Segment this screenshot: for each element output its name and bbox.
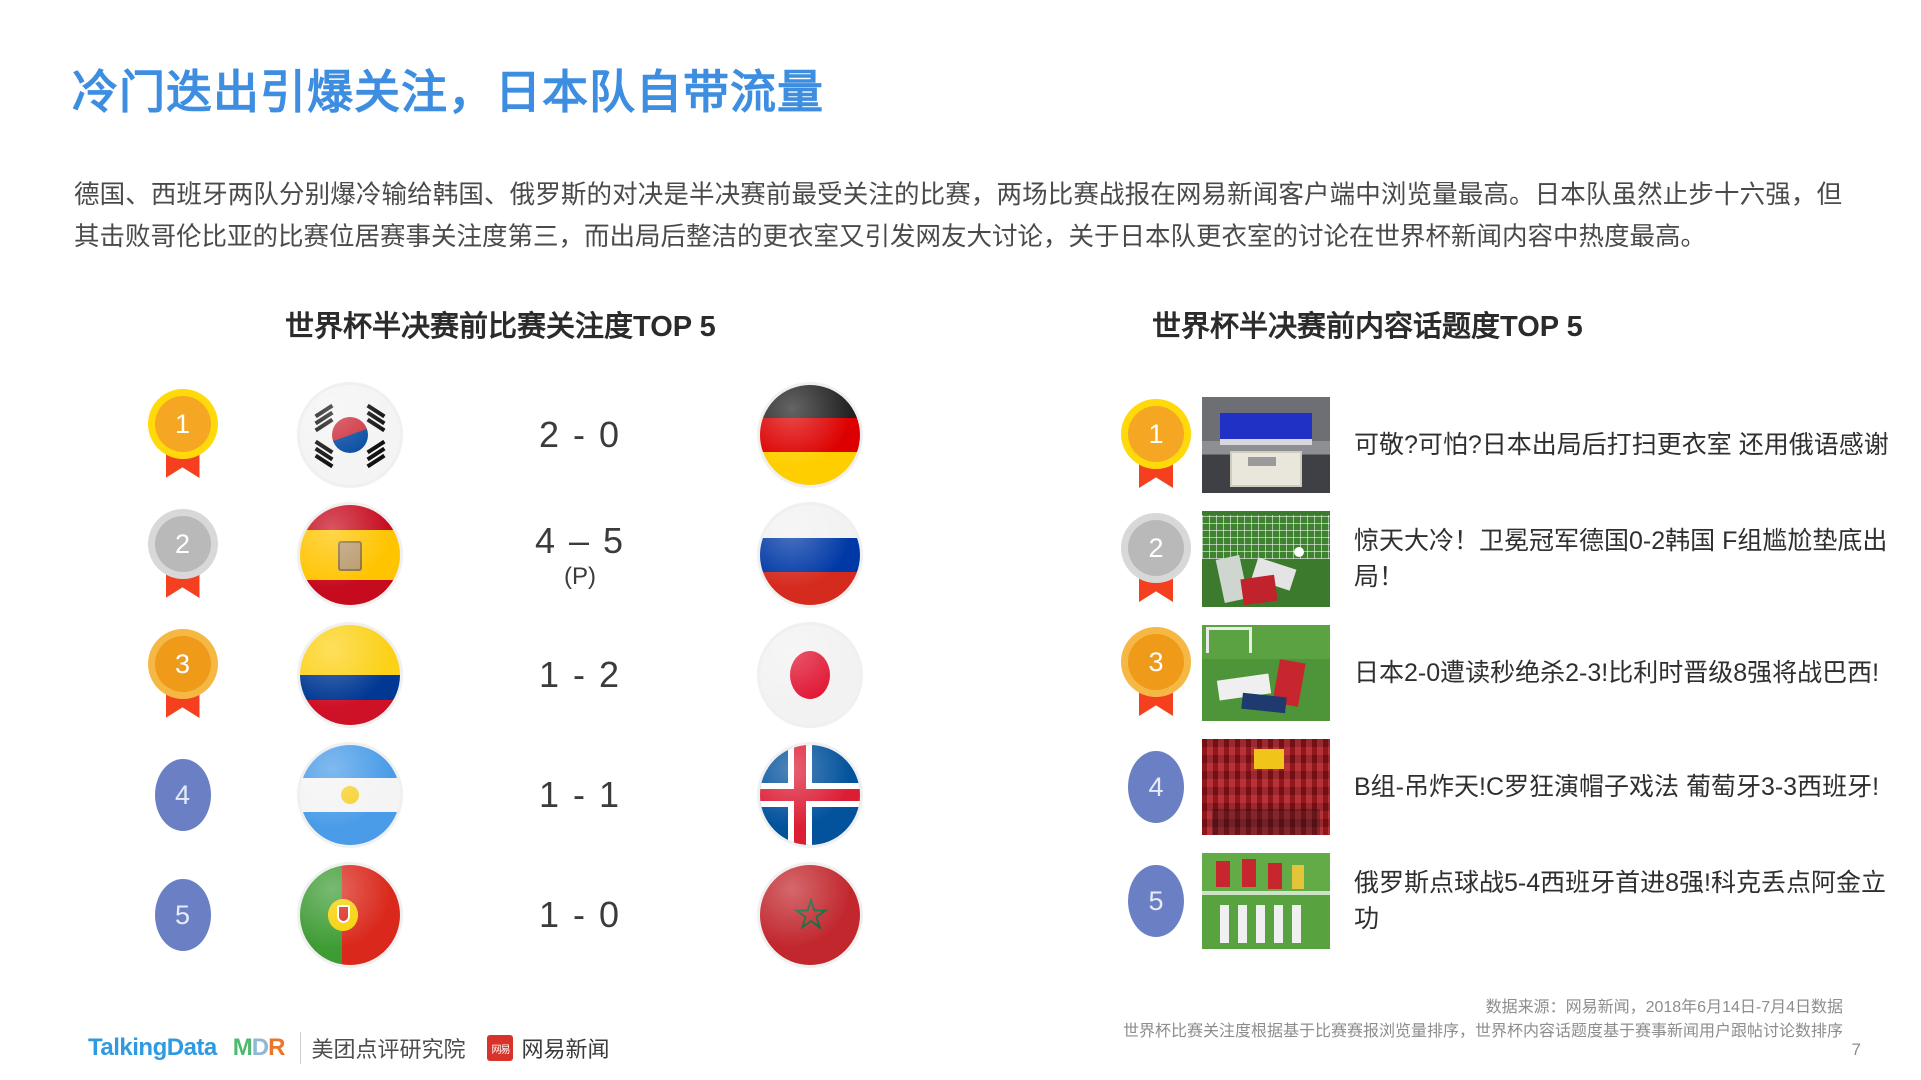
news-headline[interactable]: 惊天大冷！卫冕冠军德国0-2韩国 F组尴尬垫底出局！	[1330, 523, 1900, 595]
flag-iceland-icon	[760, 745, 860, 845]
news-ranking-list: 1 可敬?可怕?日本出局后打扫更衣室 还用俄语感谢 2 惊天大冷！卫冕冠军德国0…	[1110, 388, 1900, 958]
rank-cell: 3	[1110, 634, 1202, 712]
section-title-matches: 世界杯半决赛前比赛关注度TOP 5	[285, 303, 716, 345]
rank-cell: 2	[130, 516, 235, 594]
rank-cell: 2	[1110, 520, 1202, 598]
talkingdata-logo: TalkingData	[88, 1034, 217, 1062]
meituan-research-logo: 美团点评研究院	[300, 1032, 465, 1064]
rank-number: 3	[155, 636, 211, 692]
rank-number: 3	[1128, 634, 1184, 690]
rank-cell: 4	[1110, 751, 1202, 823]
intro-paragraph: 德国、西班牙两队分别爆冷输给韩国、俄罗斯的对决是半决赛前最受关注的比赛，两场比赛…	[74, 174, 1842, 258]
home-flag-cell	[235, 385, 465, 485]
medal-gold-icon: 1	[1128, 406, 1184, 484]
away-flag-cell	[695, 385, 925, 485]
flag-morocco-icon	[760, 865, 860, 965]
score-cell: 1 - 0	[465, 894, 695, 935]
news-thumbnail-celebration[interactable]	[1202, 853, 1330, 949]
rank-number: 2	[1128, 520, 1184, 576]
score-value: 4 – 5	[535, 520, 625, 561]
mdr-logo-d: D	[252, 1034, 268, 1061]
slide-page: 冷门迭出引爆关注，日本队自带流量 德国、西班牙两队分别爆冷输给韩国、俄罗斯的对决…	[0, 0, 1921, 1080]
rank-cell: 1	[1110, 406, 1202, 484]
rank-badge: 4	[1128, 751, 1184, 823]
rank-number: 1	[155, 396, 211, 452]
score-cell: 4 – 5 (P)	[465, 520, 695, 591]
flag-portugal-icon	[300, 865, 400, 965]
away-flag-cell	[695, 865, 925, 965]
away-flag-cell	[695, 745, 925, 845]
rank-number: 1	[1128, 406, 1184, 462]
netease-label: 网易新闻	[521, 1032, 609, 1064]
source-note-secondary: 世界杯比赛关注度根据基于比赛赛报浏览量排序，世界杯内容话题度基于赛事新闻用户跟帖…	[1123, 1017, 1843, 1041]
news-thumbnail-goalmouth[interactable]	[1202, 511, 1330, 607]
netease-news-logo: 网易 网易新闻	[487, 1032, 609, 1064]
rank-cell: 5	[130, 879, 235, 951]
news-headline[interactable]: 可敬?可怕?日本出局后打扫更衣室 还用俄语感谢	[1330, 427, 1900, 463]
flag-argentina-icon	[300, 745, 400, 845]
flag-spain-icon	[300, 505, 400, 605]
netease-mark-icon: 网易	[487, 1035, 513, 1061]
table-row[interactable]: 2 4 – 5 (P)	[130, 495, 960, 615]
score-value: 1 - 0	[539, 894, 621, 935]
logo-bar: TalkingData MDR 美团点评研究院 网易 网易新闻	[88, 1032, 609, 1064]
flag-germany-icon	[760, 385, 860, 485]
page-number: 7	[1852, 1040, 1861, 1060]
rank-cell: 5	[1110, 865, 1202, 937]
news-thumbnail-players-down[interactable]	[1202, 625, 1330, 721]
score-value: 1 - 2	[539, 654, 621, 695]
list-item[interactable]: 2 惊天大冷！卫冕冠军德国0-2韩国 F组尴尬垫底出局！	[1110, 502, 1900, 616]
home-flag-cell	[235, 865, 465, 965]
list-item[interactable]: 1 可敬?可怕?日本出局后打扫更衣室 还用俄语感谢	[1110, 388, 1900, 502]
list-item[interactable]: 4 B组-吊炸天!C罗狂演帽子戏法 葡萄牙3-3西班牙!	[1110, 730, 1900, 844]
rank-cell: 3	[130, 636, 235, 714]
rank-number: 2	[155, 516, 211, 572]
score-cell: 1 - 2	[465, 654, 695, 695]
home-flag-cell	[235, 745, 465, 845]
flag-japan-icon	[760, 625, 860, 725]
medal-silver-icon: 2	[1128, 520, 1184, 598]
page-title: 冷门迭出引爆关注，日本队自带流量	[72, 56, 824, 122]
news-headline[interactable]: 俄罗斯点球战5-4西班牙首进8强!科克丢点阿金立功	[1330, 865, 1900, 937]
score-value: 1 - 1	[539, 774, 621, 815]
score-value: 2 - 0	[539, 414, 621, 455]
medal-bronze-icon: 3	[155, 636, 211, 714]
home-flag-cell	[235, 625, 465, 725]
home-flag-cell	[235, 505, 465, 605]
mdr-logo: MDR	[233, 1034, 285, 1062]
news-thumbnail-locker-room[interactable]	[1202, 397, 1330, 493]
news-headline[interactable]: 日本2-0遭读秒绝杀2-3!比利时晋级8强将战巴西!	[1330, 655, 1900, 691]
rank-badge: 4	[155, 759, 211, 831]
flag-colombia-icon	[300, 625, 400, 725]
rank-cell: 1	[130, 396, 235, 474]
mdr-logo-r: R	[268, 1034, 284, 1061]
away-flag-cell	[695, 625, 925, 725]
flag-korea-icon	[300, 385, 400, 485]
rank-badge: 5	[155, 879, 211, 951]
flag-russia-icon	[760, 505, 860, 605]
score-note: (P)	[465, 563, 695, 591]
list-item[interactable]: 3 日本2-0遭读秒绝杀2-3!比利时晋级8强将战巴西!	[1110, 616, 1900, 730]
list-item[interactable]: 5 俄罗斯点球战5-4西班牙首进8强!科克丢点阿金立功	[1110, 844, 1900, 958]
away-flag-cell	[695, 505, 925, 605]
table-row[interactable]: 3 1 - 2	[130, 615, 960, 735]
rank-badge: 5	[1128, 865, 1184, 937]
news-thumbnail-red-crowd[interactable]	[1202, 739, 1330, 835]
news-headline[interactable]: B组-吊炸天!C罗狂演帽子戏法 葡萄牙3-3西班牙!	[1330, 769, 1900, 805]
table-row[interactable]: 4 1 - 1	[130, 735, 960, 855]
table-row[interactable]: 1	[130, 375, 960, 495]
table-row[interactable]: 5 1 - 0	[130, 855, 960, 975]
score-cell: 2 - 0	[465, 414, 695, 455]
section-title-topics: 世界杯半决赛前内容话题度TOP 5	[1152, 303, 1583, 345]
match-ranking-table: 1	[130, 375, 960, 975]
score-cell: 1 - 1	[465, 774, 695, 815]
mdr-logo-m: M	[233, 1034, 252, 1061]
medal-bronze-icon: 3	[1128, 634, 1184, 712]
rank-cell: 4	[130, 759, 235, 831]
medal-silver-icon: 2	[155, 516, 211, 594]
medal-gold-icon: 1	[155, 396, 211, 474]
source-note-primary: 数据来源：网易新闻，2018年6月14日-7月4日数据	[1486, 993, 1843, 1017]
